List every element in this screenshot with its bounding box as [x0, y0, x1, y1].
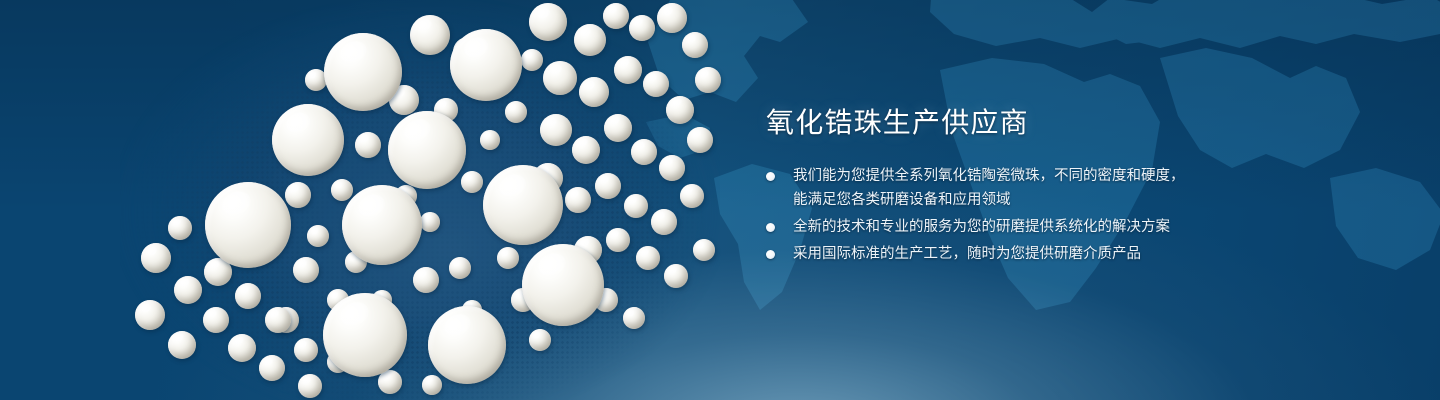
ceramic-bead [461, 171, 483, 193]
ceramic-bead [174, 276, 202, 304]
ceramic-bead [572, 136, 600, 164]
ceramic-bead [285, 182, 311, 208]
ceramic-bead [497, 247, 519, 269]
ceramic-bead [574, 24, 606, 56]
ceramic-bead [428, 306, 506, 384]
ceramic-bead [624, 194, 648, 218]
ceramic-bead [695, 67, 721, 93]
ceramic-bead [235, 283, 261, 309]
ceramic-bead [631, 139, 657, 165]
ceramic-bead [543, 61, 577, 95]
list-item-line1: 我们能为您提供全系列氧化锆陶瓷微珠，不同的密度和硬度， [793, 168, 1185, 184]
ceramic-bead [687, 127, 713, 153]
ceramic-bead [659, 155, 685, 181]
list-item: 全新的技术和专业的服务为您的研磨提供系统化的解决方案 [766, 215, 1236, 239]
ceramic-bead [355, 132, 381, 158]
ceramic-bead [420, 212, 440, 232]
ceramic-bead [342, 185, 422, 265]
ceramic-bead [480, 130, 500, 150]
ceramic-bead [298, 374, 322, 398]
ceramic-bead [378, 370, 402, 394]
ceramic-bead [529, 329, 551, 351]
ceramic-bead [579, 77, 609, 107]
ceramic-bead [135, 300, 165, 330]
ceramic-bead [657, 3, 687, 33]
ceramic-bead [168, 216, 192, 240]
ceramic-bead [565, 187, 591, 213]
ceramic-bead [323, 293, 407, 377]
ceramic-bead [643, 71, 669, 97]
ceramic-bead [522, 244, 604, 326]
ceramic-bead [228, 334, 256, 362]
ceramic-bead [141, 243, 171, 273]
ceramic-bead [331, 179, 353, 201]
ceramic-bead [540, 114, 572, 146]
ceramic-bead [422, 375, 442, 395]
ceramic-bead [388, 111, 466, 189]
ceramic-bead [664, 264, 688, 288]
bullet-dot-icon [766, 223, 775, 232]
ceramic-bead [604, 114, 632, 142]
hero-banner: 氧化锆珠生产供应商 我们能为您提供全系列氧化锆陶瓷微珠，不同的密度和硬度， 能满… [0, 0, 1440, 400]
list-item: 我们能为您提供全系列氧化锆陶瓷微珠，不同的密度和硬度， 能满足您各类研磨设备和应… [766, 164, 1236, 212]
ceramic-bead [293, 257, 319, 283]
ceramic-bead [307, 225, 329, 247]
page-title: 氧化锆珠生产供应商 [766, 104, 1236, 142]
ceramic-bead [265, 307, 291, 333]
ceramic-bead [483, 165, 563, 245]
ceramic-bead [450, 29, 522, 101]
ceramic-bead [410, 15, 450, 55]
ceramic-bead [413, 267, 439, 293]
ceramic-bead [603, 3, 629, 29]
ceramic-bead [505, 101, 527, 123]
ceramic-bead [595, 173, 621, 199]
ceramic-bead [651, 209, 677, 235]
ceramic-bead [449, 257, 471, 279]
ceramic-bead [693, 239, 715, 261]
ceramic-bead [272, 104, 344, 176]
feature-list: 我们能为您提供全系列氧化锆陶瓷微珠，不同的密度和硬度， 能满足您各类研磨设备和应… [766, 164, 1236, 266]
ceramic-bead [614, 56, 642, 84]
bullet-dot-icon [766, 172, 775, 181]
ceramic-bead [680, 184, 704, 208]
ceramic-bead [203, 307, 229, 333]
bullet-dot-icon [766, 250, 775, 259]
ceramic-bead [623, 307, 645, 329]
list-item-line1: 全新的技术和专业的服务为您的研磨提供系统化的解决方案 [793, 219, 1170, 235]
list-item-line1: 采用国际标准的生产工艺，随时为您提供研磨介质产品 [793, 246, 1141, 262]
ceramic-bead [205, 182, 291, 268]
list-item: 采用国际标准的生产工艺，随时为您提供研磨介质产品 [766, 242, 1236, 266]
ceramic-bead [682, 32, 708, 58]
zirconia-ceramic-beads-photo [120, 0, 720, 400]
bead-cluster [120, 0, 720, 400]
ceramic-bead [666, 96, 694, 124]
banner-copy: 氧化锆珠生产供应商 我们能为您提供全系列氧化锆陶瓷微珠，不同的密度和硬度， 能满… [766, 104, 1236, 269]
ceramic-bead [324, 33, 402, 111]
ceramic-bead [521, 49, 543, 71]
ceramic-bead [168, 331, 196, 359]
ceramic-bead [529, 3, 567, 41]
ceramic-bead [294, 338, 318, 362]
ceramic-bead [629, 15, 655, 41]
ceramic-bead [259, 355, 285, 381]
list-item-line2: 能满足您各类研磨设备和应用领域 [793, 188, 1236, 212]
ceramic-bead [606, 228, 630, 252]
ceramic-bead [636, 246, 660, 270]
